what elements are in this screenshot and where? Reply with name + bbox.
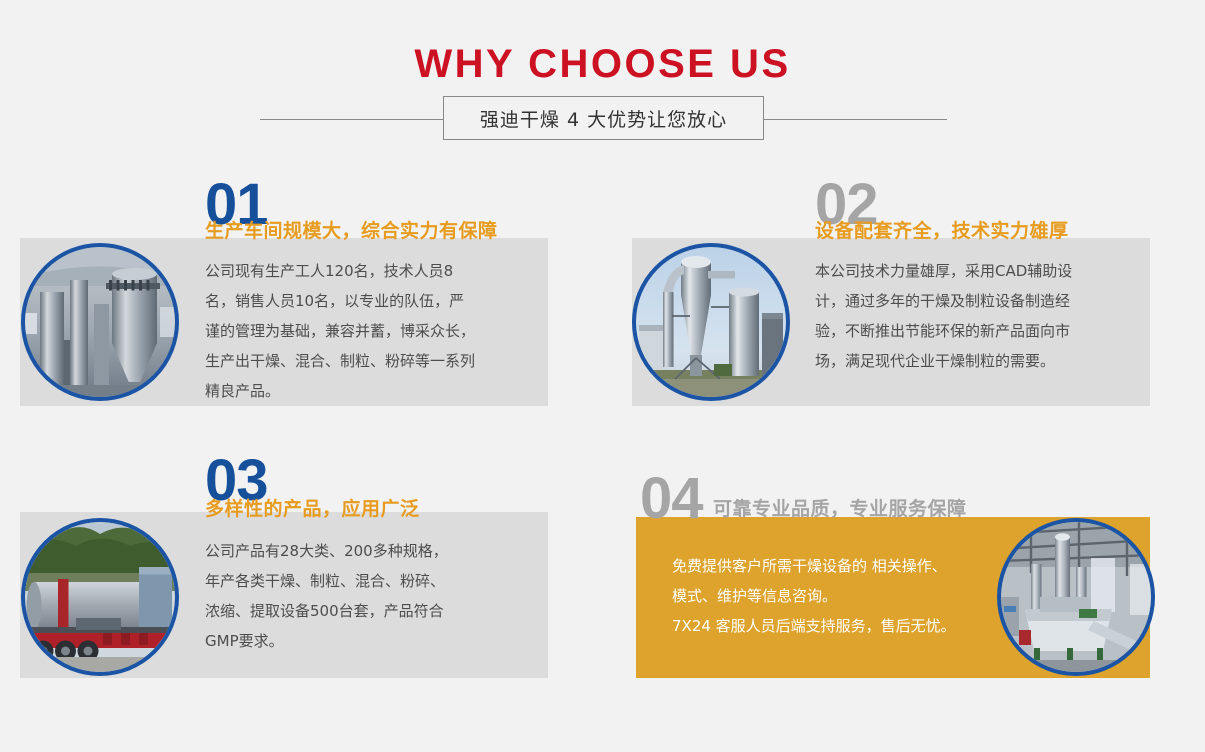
card-02-body-line: 场，满足现代企业干燥制粒的需要。 — [815, 346, 1145, 376]
subtitle-box: 强迪干燥 4 大优势让您放心 — [443, 96, 764, 140]
fluid-bed-workshop-photo — [1001, 522, 1151, 672]
page-subtitle: 强迪干燥 4 大优势让您放心 — [480, 105, 727, 132]
card-04-photo — [997, 518, 1155, 676]
card-03-title: 多样性的产品，应用广泛 — [205, 494, 420, 521]
card-02-photo-inner — [636, 247, 786, 397]
card-03-body-line: GMP要求。 — [205, 626, 535, 656]
card-01-body-line: 生产出干燥、混合、制粒、粉碎等一系列 — [205, 346, 535, 376]
card-01-body-line: 公司现有生产工人120名，技术人员8 — [205, 256, 535, 286]
card-04-body-line: 7X24 客服人员后端支持服务，售后无忧。 — [672, 611, 1002, 641]
card-01-photo-inner — [25, 247, 175, 397]
card-04-body: 免费提供客户所需干燥设备的 相关操作、 模式、维护等信息咨询。 7X24 客服人… — [672, 551, 1002, 641]
card-02-body-line: 计，通过多年的干燥及制粒设备制造经 — [815, 286, 1145, 316]
card-04-photo-inner — [1001, 522, 1151, 672]
subtitle-rule-left — [260, 119, 444, 120]
section-header: WHY CHOOSE US 强迪干燥 4 大优势让您放心 — [0, 0, 1205, 160]
why-choose-us-page: WHY CHOOSE US 强迪干燥 4 大优势让您放心 01 生产车间规模大，… — [0, 0, 1205, 752]
card-03-body: 公司产品有28大类、200多种规格， 年产各类干燥、制粒、混合、粉碎、 浓缩、提… — [205, 536, 535, 656]
card-04-body-line: 模式、维护等信息咨询。 — [672, 581, 1002, 611]
card-03-body-line: 浓缩、提取设备500台套，产品符合 — [205, 596, 535, 626]
card-03-body-line: 公司产品有28大类、200多种规格， — [205, 536, 535, 566]
card-02-body-line: 本公司技术力量雄厚，采用CAD辅助设 — [815, 256, 1145, 286]
card-04-body-line: 免费提供客户所需干燥设备的 相关操作、 — [672, 551, 1002, 581]
card-04-number: 04 — [640, 470, 703, 528]
card-03-photo — [21, 518, 179, 676]
card-01-body-line: 精良产品。 — [205, 376, 535, 406]
card-01-body-line: 名，销售人员10名，以专业的队伍，严 — [205, 286, 535, 316]
card-04-title: 可靠专业品质，专业服务保障 — [713, 494, 967, 521]
card-03-body-line: 年产各类干燥、制粒、混合、粉碎、 — [205, 566, 535, 596]
card-01-photo — [21, 243, 179, 401]
card-03-photo-inner — [25, 522, 175, 672]
card-02-body: 本公司技术力量雄厚，采用CAD辅助设 计，通过多年的干燥及制粒设备制造经 验，不… — [815, 256, 1145, 376]
card-02-photo — [632, 243, 790, 401]
card-02-body-line: 验，不断推出节能环保的新产品面向市 — [815, 316, 1145, 346]
spray-dryer-plant-photo — [25, 247, 175, 397]
rotary-drum-on-truck-photo — [25, 522, 175, 672]
page-title: WHY CHOOSE US — [0, 44, 1205, 84]
card-01-body-line: 谨的管理为基础，兼容并蓄，博采众长， — [205, 316, 535, 346]
cyclone-dryer-outdoor-photo — [636, 247, 786, 397]
card-01-title: 生产车间规模大，综合实力有保障 — [205, 216, 498, 243]
card-02-title: 设备配套齐全，技术实力雄厚 — [815, 216, 1069, 243]
card-01-body: 公司现有生产工人120名，技术人员8 名，销售人员10名，以专业的队伍，严 谨的… — [205, 256, 535, 406]
subtitle-rule-right — [763, 119, 947, 120]
